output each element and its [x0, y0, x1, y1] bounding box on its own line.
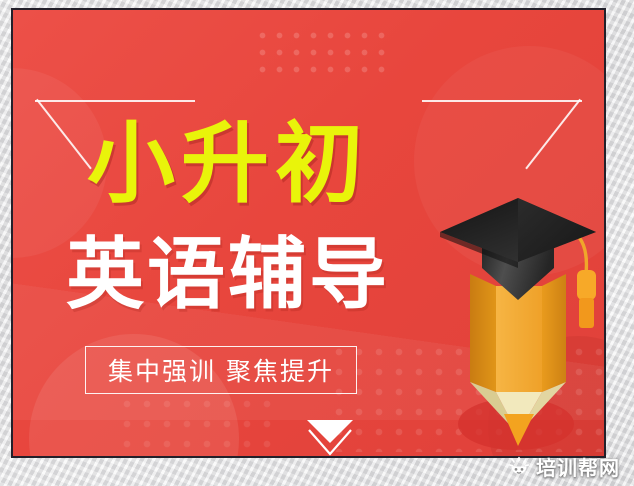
pencil-facet-center: [496, 286, 542, 392]
poster-stage: 小升初 英语辅导 集中强训 聚焦提升 培训帮网: [0, 0, 634, 486]
watermark: 培训帮网: [502, 449, 628, 484]
tagline-box: 集中强训 聚焦提升: [85, 346, 357, 394]
pencil-facet-left: [470, 274, 496, 392]
bracket-right-rule: [422, 100, 582, 102]
bracket-left-rule: [35, 100, 195, 102]
pencil-facet-right: [542, 274, 566, 392]
corner-bracket-right-icon: [422, 100, 582, 192]
chevron-solid: [307, 420, 353, 443]
sun-face-eye-left: [515, 468, 518, 471]
tassel-fringe: [579, 298, 594, 328]
bracket-right-slash: [525, 99, 581, 170]
tagline-text: 集中强训 聚焦提升: [108, 352, 334, 388]
page-title-sub: 英语辅导: [13, 236, 443, 314]
sun-face-icon: [508, 456, 530, 478]
page-title-main: 小升初: [13, 120, 443, 208]
pencil-with-graduation-cap-icon: [438, 196, 598, 458]
poster-frame: 小升初 英语辅导 集中强训 聚焦提升: [11, 8, 606, 458]
watermark-text: 培训帮网: [536, 452, 620, 481]
tassel-bead: [577, 270, 596, 300]
sun-face-eye-right: [521, 468, 524, 471]
chevron-down-icon: [299, 412, 361, 458]
